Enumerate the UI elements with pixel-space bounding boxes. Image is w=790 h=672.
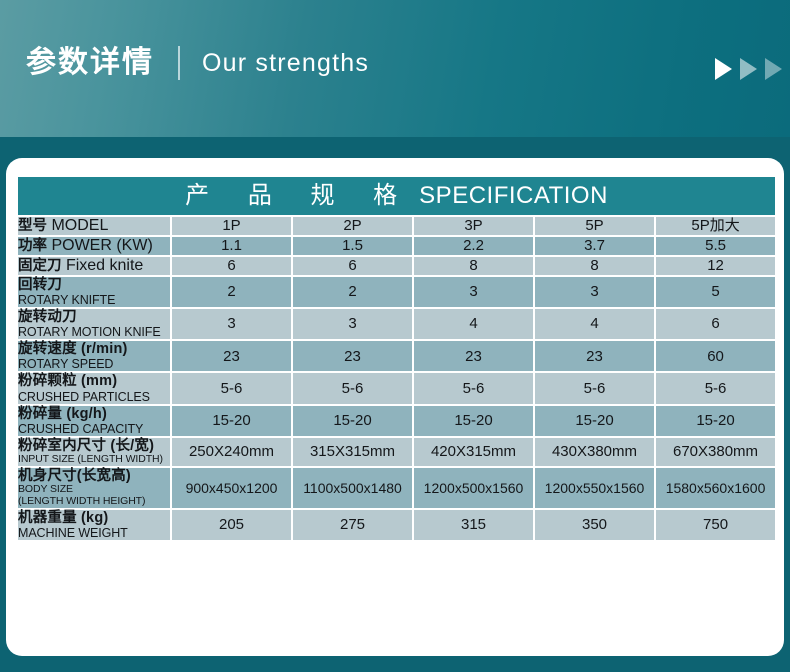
row-label-english: MACHINE WEIGHT: [18, 526, 170, 540]
table-row: 机器重量 (kg)MACHINE WEIGHT205275315350750: [18, 510, 775, 540]
row-label-cell: 固定刀 Fixed knite: [18, 257, 170, 275]
banner-arrow-group: [715, 58, 782, 80]
table-cell: 205: [172, 510, 291, 540]
table-cell: 2P: [293, 217, 412, 235]
table-cell: 900x450x1200: [172, 468, 291, 508]
row-label-cell: 机器重量 (kg)MACHINE WEIGHT: [18, 510, 170, 540]
table-row: 粉碎量 (kg/h)CRUSHED CAPACITY15-2015-2015-2…: [18, 406, 775, 436]
table-cell: 5-6: [656, 373, 775, 403]
table-cell: 3.7: [535, 237, 654, 255]
table-cell: 6: [172, 257, 291, 275]
table-cell: 5.5: [656, 237, 775, 255]
row-label-english: ROTARY KNIFTE: [18, 293, 170, 307]
table-cell: 4: [535, 309, 654, 339]
row-label-cell: 机身尺寸(长宽高)BODY SIZE(LENGTH WIDTH HEIGHT): [18, 468, 170, 508]
table-cell: 5-6: [535, 373, 654, 403]
play-arrow-icon-1: [715, 58, 732, 80]
page-banner: 参数详情 Our strengths: [0, 0, 790, 137]
table-cell: 3P: [414, 217, 533, 235]
table-header-row: 产 品 规 格SPECIFICATION: [18, 177, 775, 215]
banner-divider: [178, 46, 180, 80]
table-cell: 15-20: [172, 406, 291, 436]
row-label-text: 固定刀: [18, 258, 62, 274]
table-cell: 6: [656, 309, 775, 339]
play-arrow-icon-2: [740, 58, 757, 80]
table-cell: 2: [293, 277, 412, 307]
table-header-english: SPECIFICATION: [419, 182, 608, 209]
table-row: 型号 MODEL1P2P3P5P5P加大: [18, 217, 775, 235]
table-cell: 15-20: [414, 406, 533, 436]
table-cell: 2.2: [414, 237, 533, 255]
banner-title-group: 参数详情 Our strengths: [26, 46, 369, 80]
table-cell: 2: [172, 277, 291, 307]
table-row: 功率 POWER (KW)1.11.52.23.75.5: [18, 237, 775, 255]
table-cell: 3: [293, 309, 412, 339]
row-label-cell: 回转刀ROTARY KNIFTE: [18, 277, 170, 307]
table-cell: 1.1: [172, 237, 291, 255]
row-label-chinese: 旋转速度 (r/min): [18, 341, 170, 357]
table-cell: 23: [172, 341, 291, 371]
table-cell: 8: [535, 257, 654, 275]
table-cell: 315: [414, 510, 533, 540]
table-cell: 350: [535, 510, 654, 540]
specification-table: 产 品 规 格SPECIFICATION 型号 MODEL1P2P3P5P5P加…: [16, 175, 777, 542]
row-label-english-2: (LENGTH WIDTH HEIGHT): [18, 496, 170, 508]
table-cell: 3: [535, 277, 654, 307]
table-cell: 6: [293, 257, 412, 275]
row-label-chinese: 机器重量 (kg): [18, 510, 170, 526]
row-label-chinese: 回转刀: [18, 277, 170, 293]
table-cell: 5-6: [414, 373, 533, 403]
row-label-cell: 功率 POWER (KW): [18, 237, 170, 255]
table-cell: 275: [293, 510, 412, 540]
row-label-cell: 旋转速度 (r/min)ROTARY SPEED: [18, 341, 170, 371]
table-cell: 8: [414, 257, 533, 275]
table-cell: 5: [656, 277, 775, 307]
table-cell: 23: [414, 341, 533, 371]
row-label-text: 型号: [18, 218, 47, 234]
table-cell: 12: [656, 257, 775, 275]
table-cell: 23: [293, 341, 412, 371]
row-label-chinese: 机身尺寸(长宽高): [18, 468, 170, 484]
row-label-english: Fixed knite: [66, 257, 143, 274]
table-cell: 5-6: [293, 373, 412, 403]
banner-title-english: Our strengths: [202, 51, 369, 76]
table-cell: 5P: [535, 217, 654, 235]
row-label-text: 功率: [18, 238, 47, 254]
row-label-cell: 型号 MODEL: [18, 217, 170, 235]
table-row: 粉碎室内尺寸 (长/宽)INPUT SIZE (LENGTH WIDTH)250…: [18, 438, 775, 466]
row-label-chinese: 粉碎室内尺寸 (长/宽): [18, 438, 170, 454]
table-cell: 430X380mm: [535, 438, 654, 466]
row-label-chinese: 旋转动刀: [18, 309, 170, 325]
table-cell: 60: [656, 341, 775, 371]
table-cell: 3: [414, 277, 533, 307]
table-row: 旋转动刀ROTARY MOTION KNIFE33446: [18, 309, 775, 339]
row-label-english: POWER (KW): [51, 237, 152, 254]
table-row: 旋转速度 (r/min)ROTARY SPEED2323232360: [18, 341, 775, 371]
table-cell: 1580x560x1600: [656, 468, 775, 508]
row-label-cell: 粉碎量 (kg/h)CRUSHED CAPACITY: [18, 406, 170, 436]
table-cell: 15-20: [293, 406, 412, 436]
table-header-cell: 产 品 规 格SPECIFICATION: [18, 177, 775, 215]
table-cell: 4: [414, 309, 533, 339]
table-cell: 15-20: [656, 406, 775, 436]
row-label-cell: 粉碎颗粒 (mm)CRUSHED PARTICLES: [18, 373, 170, 403]
banner-title-chinese: 参数详情: [26, 48, 154, 78]
table-row: 固定刀 Fixed knite668812: [18, 257, 775, 275]
table-cell: 315X315mm: [293, 438, 412, 466]
row-label-english: INPUT SIZE (LENGTH WIDTH): [18, 454, 170, 466]
row-label-cell: 旋转动刀ROTARY MOTION KNIFE: [18, 309, 170, 339]
table-row: 回转刀ROTARY KNIFTE22335: [18, 277, 775, 307]
row-label-english: MODEL: [51, 217, 108, 234]
table-cell: 420X315mm: [414, 438, 533, 466]
table-cell: 3: [172, 309, 291, 339]
table-cell: 5-6: [172, 373, 291, 403]
row-label-chinese: 粉碎量 (kg/h): [18, 406, 170, 422]
table-cell: 1.5: [293, 237, 412, 255]
row-label-english: CRUSHED PARTICLES: [18, 390, 170, 404]
table-cell: 750: [656, 510, 775, 540]
row-label-chinese: 粉碎颗粒 (mm): [18, 373, 170, 389]
row-label-english: CRUSHED CAPACITY: [18, 422, 170, 436]
table-cell: 5P加大: [656, 217, 775, 235]
page-root: 参数详情 Our strengths 产 品 规 格SPECIFICATION: [0, 0, 790, 672]
row-label-english: ROTARY MOTION KNIFE: [18, 325, 170, 339]
table-cell: 15-20: [535, 406, 654, 436]
table-cell: 250X240mm: [172, 438, 291, 466]
table-header-chinese: 产 品 规 格: [185, 182, 413, 209]
table-row: 机身尺寸(长宽高)BODY SIZE(LENGTH WIDTH HEIGHT)9…: [18, 468, 775, 508]
play-arrow-icon-3: [765, 58, 782, 80]
table-cell: 23: [535, 341, 654, 371]
row-label-cell: 粉碎室内尺寸 (长/宽)INPUT SIZE (LENGTH WIDTH): [18, 438, 170, 466]
row-label-english: ROTARY SPEED: [18, 357, 170, 371]
spec-card: 产 品 规 格SPECIFICATION 型号 MODEL1P2P3P5P5P加…: [6, 158, 784, 656]
table-cell: 1P: [172, 217, 291, 235]
table-cell: 1200x550x1560: [535, 468, 654, 508]
table-cell: 1200x500x1560: [414, 468, 533, 508]
table-row: 粉碎颗粒 (mm)CRUSHED PARTICLES5-65-65-65-65-…: [18, 373, 775, 403]
table-cell: 1100x500x1480: [293, 468, 412, 508]
table-cell: 670X380mm: [656, 438, 775, 466]
